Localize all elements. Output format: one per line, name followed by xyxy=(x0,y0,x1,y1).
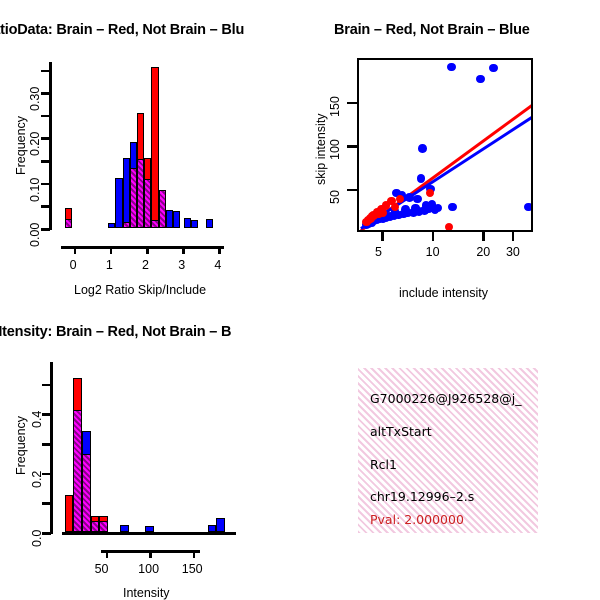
intensity-xtick xyxy=(193,550,196,558)
scatter-xtick xyxy=(381,232,384,241)
intensity-xtick xyxy=(149,550,152,558)
ratio-xtick-label: 3 xyxy=(178,258,185,272)
ratio-ytick xyxy=(41,115,50,118)
histogram-bar-not-brain xyxy=(208,525,217,532)
scatter-point xyxy=(413,195,422,204)
intensity-ytick xyxy=(42,443,51,446)
histogram-bar-overlap xyxy=(144,178,151,228)
scatter-point xyxy=(524,203,533,212)
histogram-bar-not-brain xyxy=(206,219,213,228)
ratio-xtick xyxy=(74,246,77,254)
ratio-xtick xyxy=(182,246,185,254)
scatter-point xyxy=(447,63,456,72)
scatter-ytick-label: 100 xyxy=(328,139,342,160)
histogram-bar-brain xyxy=(99,516,108,522)
info-pval: Pval: 2.000000 xyxy=(370,512,464,527)
scatter-point xyxy=(445,223,454,232)
info-panel-container: G7000226@J926528@j_ altTxStart Rcl1 chr1… xyxy=(300,300,600,600)
scatter-ytick xyxy=(347,102,357,105)
ratio-histogram-plot: 0.000.100.200.3001234 xyxy=(0,0,300,300)
ratio-xtick-label: 1 xyxy=(106,258,113,272)
ratio-xtick xyxy=(146,246,149,254)
histogram-bar-not-brain xyxy=(115,178,122,228)
ratio-xaxis-line xyxy=(61,246,224,249)
scatter-ytick xyxy=(347,189,357,192)
scatter-xtick-label: 20 xyxy=(476,245,490,259)
histogram-bar-overlap xyxy=(73,409,82,532)
scatter-xtick xyxy=(432,232,435,241)
scatter-plot-area: 501001505102030 xyxy=(300,0,600,300)
gene-info-panel: G7000226@J926528@j_ altTxStart Rcl1 chr1… xyxy=(358,368,538,533)
info-coordinates: chr19.12996–2.s xyxy=(370,489,474,504)
scatter-ytick-label: 50 xyxy=(328,190,342,204)
ratio-ytick-label: 0.30 xyxy=(28,87,42,111)
scatter-point xyxy=(431,205,440,214)
scatter-point xyxy=(417,174,426,183)
histogram-bar-not-brain xyxy=(191,220,198,228)
histogram-bar-overlap xyxy=(130,167,137,228)
histogram-bar-overlap xyxy=(137,158,144,228)
scatter-panel: Brain – Red, Not Brain – Blue skip inten… xyxy=(300,0,600,300)
intensity-yaxis-line xyxy=(50,362,53,534)
scatter-point xyxy=(426,189,435,198)
intensity-xtick-label: 100 xyxy=(138,562,159,576)
intensity-histogram-plot: 0.00.20.450100150 xyxy=(0,300,300,600)
scatter-xtick xyxy=(512,232,515,241)
info-gene-symbol: Rcl1 xyxy=(370,457,397,472)
histogram-bar-brain xyxy=(91,516,100,522)
scatter-xtick-label: 30 xyxy=(506,245,520,259)
histogram-bar-not-brain xyxy=(108,223,115,228)
histogram-bar-not-brain xyxy=(123,158,130,223)
intensity-ytick-label: 0.0 xyxy=(30,530,44,547)
ratio-ytick xyxy=(41,228,50,231)
ratio-ytick xyxy=(41,160,50,163)
scatter-point xyxy=(476,75,485,84)
intensity-xtick xyxy=(106,550,109,558)
ratio-xtick xyxy=(110,246,113,254)
histogram-bar-not-brain xyxy=(82,431,91,455)
intensity-xtick-label: 50 xyxy=(95,562,109,576)
intensity-ytick-label: 0.4 xyxy=(30,411,44,428)
ratio-ytick-label: 0.10 xyxy=(28,177,42,201)
ratio-xtick xyxy=(218,246,221,254)
intensity-xtick-label: 150 xyxy=(182,562,203,576)
histogram-bar-brain xyxy=(144,158,151,180)
histogram-bar-not-brain xyxy=(166,210,173,228)
histogram-bar-not-brain xyxy=(173,211,180,228)
histogram-bar-not-brain xyxy=(130,142,137,169)
histogram-bar-not-brain xyxy=(120,525,129,532)
ratio-xtick-label: 0 xyxy=(70,258,77,272)
histogram-bar-brain xyxy=(65,208,72,220)
histogram-bar-brain xyxy=(151,67,158,221)
histogram-bar-not-brain xyxy=(184,218,191,228)
scatter-xtick-label: 10 xyxy=(426,245,440,259)
scatter-point xyxy=(374,210,383,219)
intensity-baseline xyxy=(62,532,236,535)
ratio-ytick xyxy=(41,183,50,186)
ratio-ytick-label: 0.00 xyxy=(28,223,42,247)
scatter-frame xyxy=(357,58,533,232)
ratio-ytick xyxy=(41,205,50,208)
scatter-point xyxy=(448,203,457,212)
histogram-bar-not-brain xyxy=(216,518,225,532)
intensity-ytick-label: 0.2 xyxy=(30,470,44,487)
ratio-xtick-label: 4 xyxy=(214,258,221,272)
intensity-histogram-panel: ne Itensity: Brain – Red, Not Brain – B … xyxy=(0,300,300,600)
histogram-bar-brain xyxy=(65,495,74,532)
scatter-ytick xyxy=(347,145,357,148)
histogram-bar-brain xyxy=(73,378,82,411)
histogram-bar-overlap xyxy=(159,190,166,228)
ratio-ytick-label: 0.20 xyxy=(28,132,42,156)
ratio-histogram-panel: RatioData: Brain – Red, Not Brain – Blu … xyxy=(0,0,300,300)
ratio-xtick-label: 2 xyxy=(142,258,149,272)
scatter-point xyxy=(489,64,498,73)
scatter-point xyxy=(418,144,427,153)
scatter-point xyxy=(411,204,420,213)
intensity-ytick xyxy=(42,502,51,505)
scatter-point xyxy=(401,205,410,214)
ratio-ytick xyxy=(41,70,50,73)
info-event-type: altTxStart xyxy=(370,424,432,439)
histogram-bar-brain xyxy=(137,113,144,160)
ratio-ytick xyxy=(41,92,50,95)
histogram-bar-overlap xyxy=(82,453,91,532)
scatter-xtick-label: 5 xyxy=(375,245,382,259)
scatter-xtick xyxy=(482,232,485,241)
scatter-ytick-label: 150 xyxy=(328,96,342,117)
intensity-ytick xyxy=(42,384,51,387)
info-gene-id: G7000226@J926528@j_ xyxy=(370,391,521,406)
ratio-ytick xyxy=(41,137,50,140)
